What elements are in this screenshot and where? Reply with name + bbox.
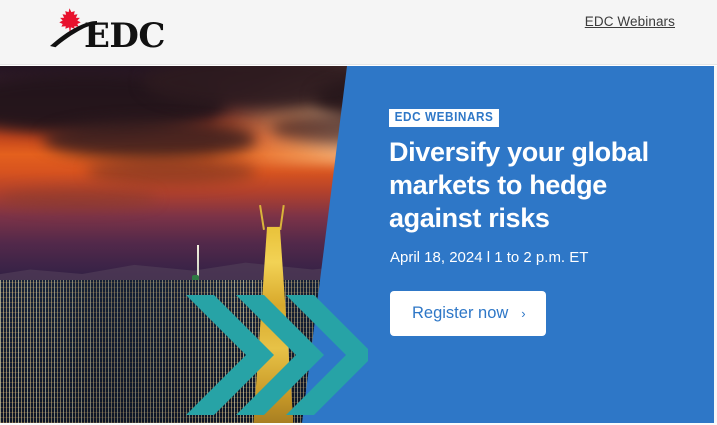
banner-headline: Diversify your global markets to hedge a… bbox=[389, 136, 679, 235]
cloud-shape bbox=[43, 120, 257, 159]
site-header: EDC EDC Webinars bbox=[0, 0, 717, 65]
cloud-shape bbox=[86, 159, 257, 184]
edc-logo[interactable]: EDC bbox=[48, 6, 178, 52]
edc-wordmark: EDC bbox=[84, 16, 165, 52]
register-now-label: Register now bbox=[412, 304, 508, 322]
cloud-shape bbox=[0, 187, 157, 208]
triple-chevron-icon bbox=[186, 295, 368, 415]
header-nav-link-edc-webinars[interactable]: EDC Webinars bbox=[585, 13, 675, 31]
banner-copy: EDC WEBINARS Diversify your global marke… bbox=[389, 66, 689, 423]
banner-date-time: April 18, 2024 l 1 to 2 p.m. ET bbox=[390, 248, 588, 268]
register-now-button[interactable]: Register now › bbox=[390, 291, 546, 336]
chevron-right-icon: › bbox=[521, 307, 525, 320]
chevron-arrows-graphic bbox=[178, 295, 368, 423]
edc-logo-mark: EDC bbox=[48, 6, 178, 52]
webinar-banner: EDC WEBINARS Diversify your global marke… bbox=[0, 66, 714, 423]
eyebrow-badge: EDC WEBINARS bbox=[389, 109, 499, 127]
page-root: EDC EDC Webinars bbox=[0, 0, 717, 425]
